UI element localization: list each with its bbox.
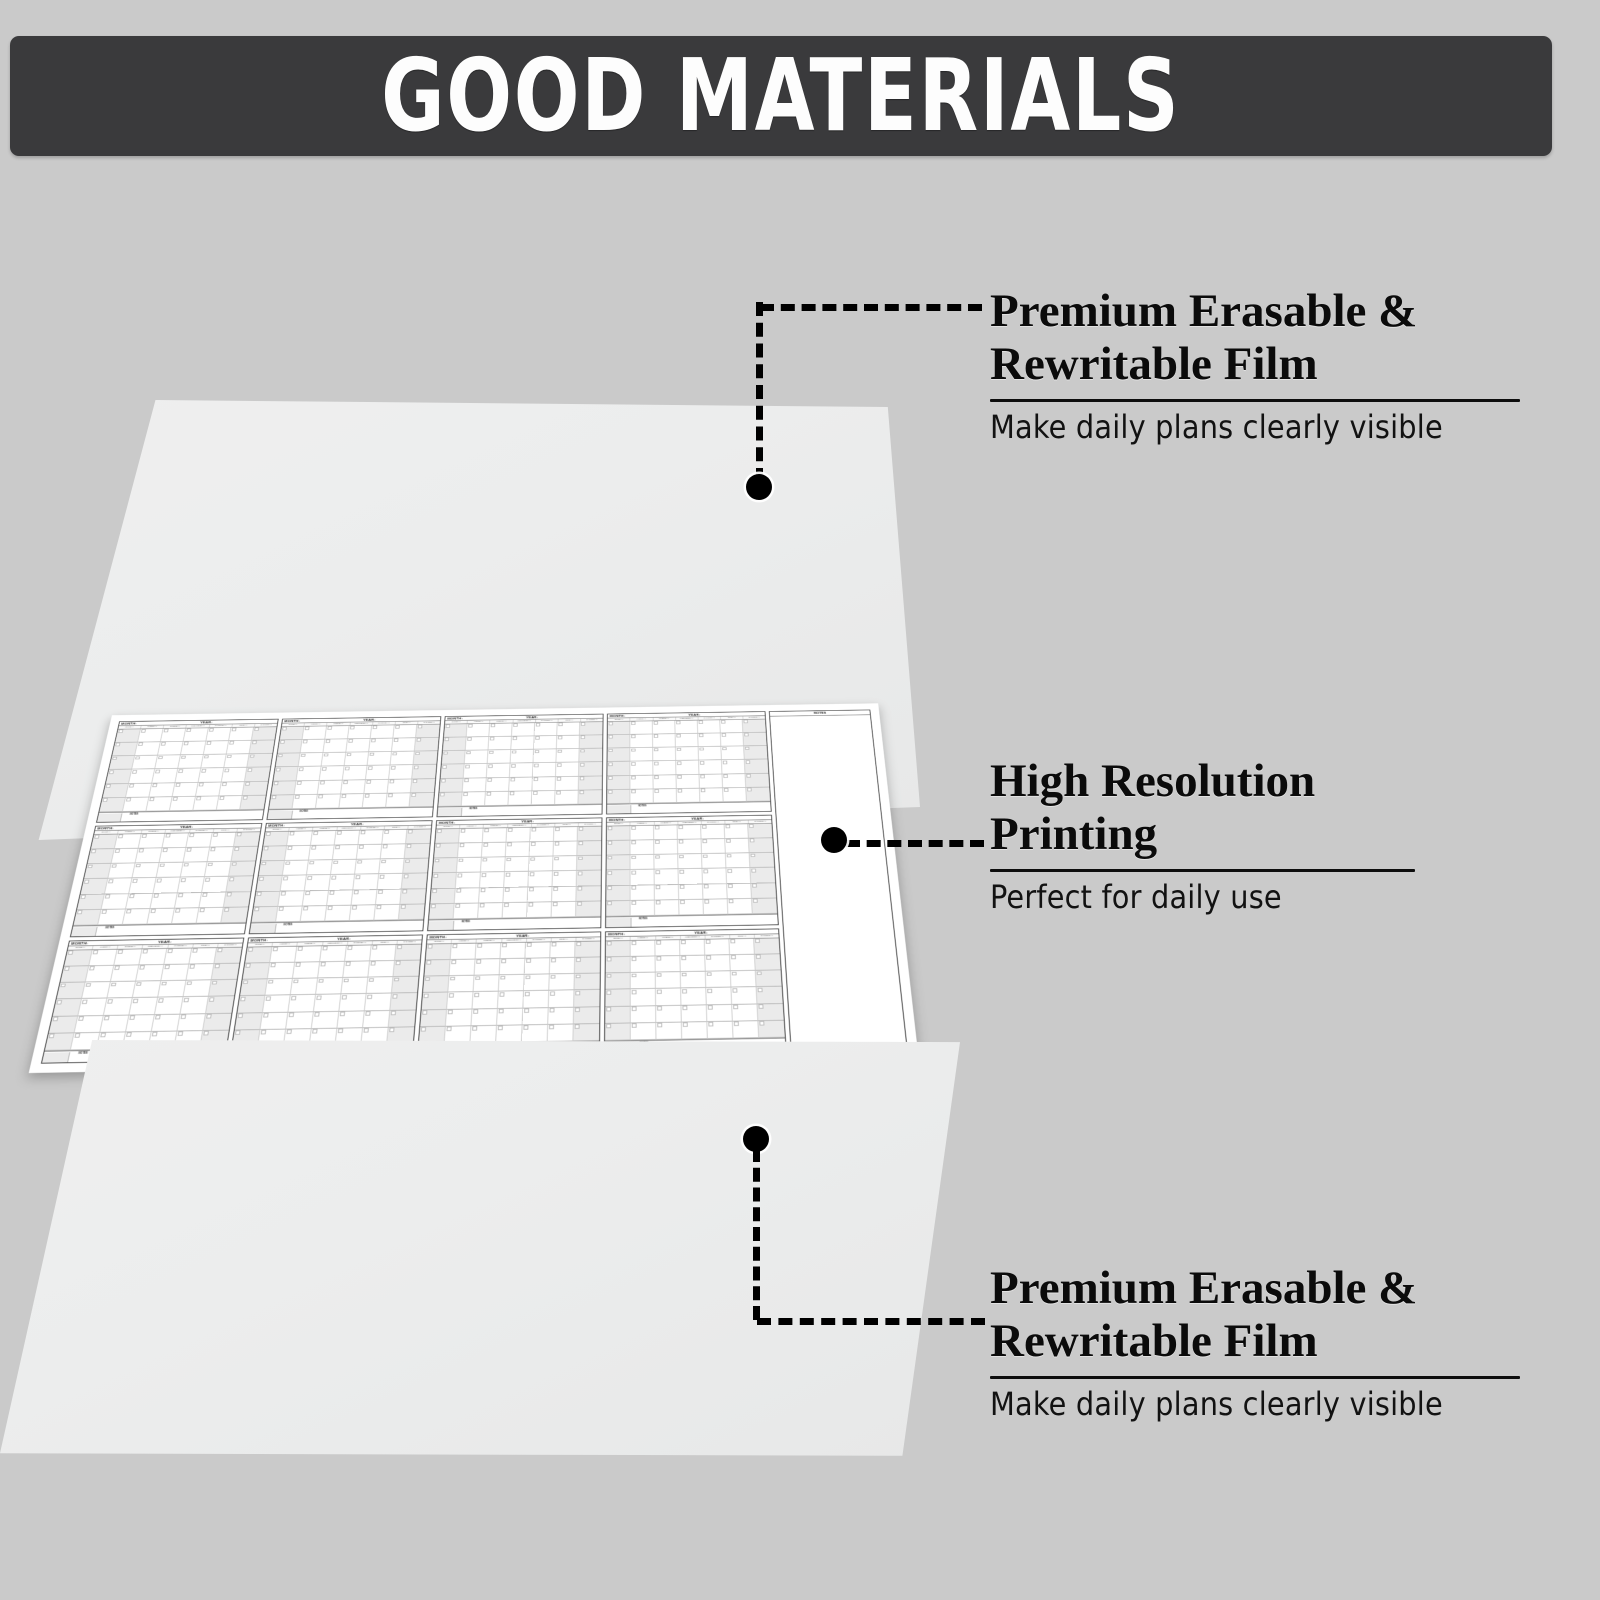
day-cell [579, 762, 602, 776]
day-cell [170, 796, 196, 811]
day-cell [341, 978, 368, 995]
day-cell [548, 1007, 574, 1024]
day-cell [605, 1023, 631, 1041]
day-cell [307, 860, 333, 875]
day-cell [186, 833, 212, 848]
day-cell [653, 721, 676, 735]
day-cell [556, 763, 579, 777]
day-cell [701, 824, 725, 839]
callout-bottom-subtitle: Make daily plans clearly visible [990, 1385, 1535, 1423]
day-cell [265, 979, 293, 996]
day-cell [473, 992, 499, 1009]
day-cell [522, 1025, 548, 1043]
day-cell [111, 849, 138, 864]
day-cell [523, 1008, 549, 1025]
day-cell [722, 760, 746, 774]
day-cell [335, 830, 360, 845]
day-cell [107, 982, 136, 999]
day-cell [499, 975, 525, 992]
day-cell [291, 978, 318, 995]
day-cell [391, 752, 415, 766]
day-cell [382, 829, 407, 844]
day-cell [503, 902, 528, 918]
day-cell [74, 1016, 103, 1034]
day-cell [270, 946, 297, 963]
callout-middle: High Resolution Printing Perfect for dai… [990, 755, 1410, 917]
day-cell [281, 876, 307, 892]
day-cell [553, 871, 578, 887]
day-cell [707, 1004, 733, 1021]
day-cell [475, 959, 501, 976]
day-cell [243, 963, 271, 980]
day-cell [580, 735, 603, 749]
day-cell [511, 736, 534, 750]
day-cell [299, 753, 324, 767]
day-cell [482, 842, 507, 857]
day-cell [303, 726, 328, 740]
day-cell [353, 874, 379, 890]
day-cell-grid [607, 719, 770, 804]
day-cell [704, 899, 729, 915]
day-cell [656, 956, 681, 973]
day-cell [631, 734, 654, 748]
day-cell [221, 907, 248, 923]
day-cell [507, 827, 531, 842]
notes-panel: NOTES [769, 710, 907, 1051]
day-cell [654, 789, 677, 804]
day-cell [512, 723, 535, 737]
day-cell [631, 775, 654, 789]
day-cell [197, 908, 224, 924]
day-cell [607, 789, 630, 804]
day-cell [454, 903, 479, 919]
day-cell [508, 791, 532, 806]
day-cell [455, 888, 480, 904]
day-cell [677, 774, 700, 788]
day-cell [410, 793, 435, 808]
month-row: MONTH:YEAR:SUNDAYMONDAYTUESDAYWEDNESDAYT… [96, 711, 772, 823]
page-title: GOOD MATERIALS [381, 46, 1180, 146]
day-cell [406, 829, 431, 844]
day-cell [368, 752, 392, 766]
day-cell [181, 862, 208, 877]
day-cell [207, 847, 233, 862]
day-cell [392, 738, 416, 752]
day-cell [608, 735, 631, 749]
month-block: MONTH:YEAR:SUNDAYMONDAYTUESDAYWEDNESDAYT… [437, 714, 604, 817]
day-cell [751, 868, 776, 884]
day-cell [524, 974, 550, 991]
day-cell [322, 753, 347, 767]
day-cell [146, 797, 172, 812]
day-cell [100, 1015, 129, 1033]
day-cell [276, 906, 303, 922]
month-block: MONTH:YEAR:SUNDAYMONDAYTUESDAYWEDNESDAYT… [606, 711, 772, 814]
day-cell [325, 905, 351, 921]
day-cell [476, 943, 502, 960]
day-cell [357, 844, 382, 859]
day-cell [123, 909, 151, 925]
day-cell [706, 971, 732, 988]
day-cell [339, 794, 364, 809]
day-cell [415, 738, 439, 752]
day-cell [478, 903, 503, 919]
day-cell [451, 943, 477, 960]
day-cell [481, 857, 506, 872]
day-cell-grid [606, 823, 777, 916]
day-cell [392, 977, 419, 994]
day-cell [386, 793, 411, 808]
day-cell [554, 827, 578, 842]
day-cell [325, 726, 349, 740]
day-cell [434, 843, 459, 858]
day-cell [698, 733, 721, 747]
day-cell [181, 741, 206, 755]
callout-middle-marker-dot [821, 827, 847, 853]
day-cell [552, 902, 577, 918]
day-cell [352, 890, 378, 906]
month-block: MONTH:YEAR:SUNDAYMONDAYTUESDAYWEDNESDAYT… [605, 815, 779, 928]
day-cell [112, 742, 138, 756]
day-cell [432, 873, 457, 889]
day-cell [133, 981, 161, 998]
day-cell [422, 993, 449, 1010]
day-cell [99, 798, 126, 813]
day-cell [87, 849, 114, 864]
day-cell [450, 959, 476, 976]
day-cell [757, 987, 783, 1004]
day-cell [429, 904, 455, 920]
day-cell [705, 939, 730, 955]
day-cell [631, 870, 655, 886]
day-cell [82, 982, 111, 999]
day-cell [161, 964, 189, 981]
month-label: MONTH: [429, 935, 446, 939]
day-cell [178, 877, 205, 893]
day-cell [680, 939, 705, 955]
day-cell [580, 722, 603, 736]
day-cell [423, 976, 449, 993]
day-cell [203, 1013, 231, 1031]
day-cell [574, 1024, 600, 1042]
day-cell [350, 905, 376, 921]
day-cell [98, 909, 126, 925]
day-cell [678, 839, 702, 854]
day-cell [158, 981, 186, 998]
day-cell [366, 766, 391, 780]
day-cell [303, 890, 329, 906]
day-cell [489, 736, 513, 750]
day-cell [414, 751, 438, 765]
day-cell [501, 942, 527, 959]
day-cell [557, 735, 580, 749]
month-block: MONTH:YEAR:SUNDAYMONDAYTUESDAYWEDNESDAYT… [604, 928, 787, 1053]
day-cell [557, 749, 580, 763]
callout-top: Premium Erasable & Rewritable Film Make … [990, 285, 1535, 447]
day-cell [259, 861, 285, 876]
day-cell [575, 941, 600, 958]
day-cell [577, 841, 601, 856]
day-cell [749, 838, 774, 853]
day-cell [533, 763, 557, 777]
day-cell [316, 978, 343, 995]
day-cell [341, 780, 366, 794]
day-cell [345, 752, 370, 766]
day-cell [368, 961, 395, 978]
callout-bottom-title: Premium Erasable & Rewritable Film [990, 1262, 1535, 1367]
day-cell [86, 966, 115, 983]
month-label: MONTH: [610, 714, 626, 717]
day-cell [204, 741, 229, 755]
bottom-film-layer [0, 1040, 960, 1460]
day-cell [607, 776, 630, 790]
day-cell [196, 782, 222, 796]
day-cell [486, 777, 510, 791]
day-cell [725, 824, 749, 839]
day-cell [699, 760, 722, 774]
day-cell [183, 980, 211, 997]
day-cell [479, 887, 504, 903]
day-cell [433, 858, 458, 873]
day-cell [234, 832, 260, 847]
day-cell [733, 1021, 759, 1039]
day-cell [426, 944, 452, 961]
day-cell [84, 864, 111, 879]
day-cell [103, 784, 129, 798]
day-cell [78, 999, 107, 1016]
month-notes-label: NOTES [462, 806, 602, 811]
day-cell [316, 794, 341, 809]
day-cell [156, 863, 183, 878]
day-cell [534, 736, 557, 750]
day-cell [292, 795, 317, 810]
day-cell [331, 860, 357, 875]
day-cell [607, 840, 631, 855]
day-cell [359, 830, 384, 845]
day-cell [389, 765, 413, 779]
day-cell [631, 900, 655, 916]
day-cell [411, 779, 435, 793]
day-cell [109, 756, 135, 770]
day-cell-grid [73, 832, 260, 926]
day-cell [280, 726, 305, 740]
day-cell [135, 848, 162, 863]
day-cell [752, 898, 777, 914]
day-cell [162, 833, 189, 848]
callout-top-marker-dot [746, 474, 772, 500]
day-cell [240, 979, 268, 996]
day-cell [631, 748, 654, 762]
day-cell [578, 826, 602, 841]
day-cell [305, 875, 331, 891]
month-label: MONTH: [71, 942, 89, 946]
day-cell [606, 885, 630, 901]
day-cell [206, 728, 231, 742]
month-block: MONTH:YEAR:SUNDAYMONDAYTUESDAYWEDNESDAYT… [70, 823, 263, 937]
day-cell [106, 770, 132, 784]
day-cell [655, 900, 680, 916]
day-cell [676, 734, 699, 748]
day-cell [219, 782, 245, 796]
month-notes-label: NOTES [454, 918, 601, 923]
month-notes-label: NOTES [292, 808, 433, 813]
day-cell [656, 1005, 682, 1022]
day-cell [606, 941, 631, 958]
month-block: MONTH:YEAR:SUNDAYMONDAYTUESDAYWEDNESDAYT… [427, 817, 602, 931]
callout-top-leader-vertical [756, 302, 763, 482]
month-block: MONTH:YEAR:SUNDAYMONDAYTUESDAYWEDNESDAYT… [266, 716, 441, 820]
day-cell [550, 958, 575, 975]
day-cell [554, 841, 578, 856]
day-cell [549, 974, 575, 991]
day-cell-grid [419, 941, 600, 1044]
day-cell [129, 998, 158, 1015]
day-cell [333, 845, 359, 860]
day-cell [462, 792, 486, 807]
day-cell [746, 773, 770, 787]
day-cell [123, 797, 149, 812]
month-notes-box [268, 811, 293, 820]
day-cell [251, 907, 278, 923]
day-cell [420, 1009, 447, 1026]
day-cell [403, 859, 428, 874]
day-cell [606, 901, 630, 917]
day-cell [705, 955, 731, 972]
day-cell [506, 842, 530, 857]
day-cell-grid [269, 724, 440, 809]
day-cell [606, 957, 631, 974]
month-row: MONTH:YEAR:SUNDAYMONDAYTUESDAYWEDNESDAYT… [70, 815, 779, 938]
month-label: MONTH: [284, 720, 300, 723]
day-cell [723, 774, 747, 788]
day-cell [576, 901, 601, 917]
day-cell [309, 845, 335, 860]
day-cell [424, 960, 450, 977]
day-cell [656, 940, 681, 956]
day-cell [681, 972, 707, 989]
day-cell [730, 939, 756, 955]
day-cell [111, 965, 139, 982]
day-cell [758, 1004, 784, 1021]
day-cell [681, 955, 706, 972]
day-cell [525, 958, 551, 975]
day-cell [754, 938, 780, 954]
day-cell [329, 875, 355, 891]
day-cell [504, 872, 529, 888]
day-cell [210, 832, 236, 847]
day-cell [73, 910, 101, 926]
day-cell [700, 774, 724, 788]
day-cell [496, 1025, 522, 1043]
day-cell [115, 834, 142, 849]
day-cell-grid [45, 947, 242, 1051]
month-notes-box [438, 808, 462, 817]
day-cell [631, 885, 655, 901]
day-cell [699, 747, 722, 761]
day-cell [231, 847, 257, 862]
day-cell [675, 720, 698, 734]
day-cell [159, 848, 186, 863]
day-cell [467, 724, 491, 738]
month-notes-box [42, 1052, 71, 1063]
day-cell [183, 847, 210, 862]
day-cell [374, 905, 400, 921]
day-cell [532, 791, 556, 806]
day-cell [608, 762, 631, 776]
day-cell [105, 878, 133, 894]
day-cell [577, 856, 601, 871]
day-cell [376, 889, 402, 905]
day-cell [441, 764, 465, 778]
day-cell [448, 976, 474, 993]
day-cell-grid [232, 944, 421, 1047]
day-cell [369, 738, 393, 752]
day-cell [631, 761, 654, 775]
month-notes-label: NOTES [631, 803, 771, 808]
day-cell [607, 855, 631, 870]
day-cell [678, 825, 702, 840]
day-cell [363, 793, 388, 808]
day-cell [480, 872, 505, 888]
day-cell [549, 990, 575, 1007]
day-cell [607, 870, 631, 886]
day-cell [104, 998, 133, 1015]
day-cell [393, 725, 417, 739]
day-cell [485, 791, 509, 806]
day-cell [364, 779, 389, 793]
day-cell [631, 956, 656, 973]
day-cell [444, 724, 468, 738]
day-cell [606, 973, 631, 990]
day-cell [732, 987, 758, 1004]
day-cell [676, 747, 699, 761]
day-cell [394, 960, 420, 977]
day-cell [209, 980, 237, 997]
day-cell [700, 788, 724, 802]
day-cell [556, 776, 580, 790]
day-cell [235, 1013, 263, 1031]
day-cell [337, 1011, 364, 1028]
day-cell [745, 760, 769, 774]
day-cell [193, 796, 219, 811]
day-cell [574, 990, 600, 1007]
day-cell [114, 949, 142, 966]
day-cell [199, 768, 225, 782]
day-cell [212, 963, 240, 980]
day-cell [732, 1004, 758, 1021]
day-cell [435, 829, 460, 844]
month-block: MONTH:YEAR:SUNDAYMONDAYTUESDAYWEDNESDAYT… [96, 719, 279, 823]
day-cell [703, 869, 728, 885]
day-cell [575, 957, 600, 974]
day-cell [530, 827, 554, 842]
day-cell [498, 991, 524, 1008]
day-cell [263, 995, 291, 1012]
callout-middle-divider [990, 869, 1415, 872]
day-cell [229, 861, 255, 876]
callout-bottom-leader-horizontal [757, 1318, 985, 1325]
day-cell [371, 725, 395, 739]
day-cell [756, 970, 782, 987]
day-cell [744, 732, 767, 746]
month-label: MONTH: [97, 827, 114, 830]
day-cell [443, 737, 467, 751]
day-cell [367, 977, 394, 994]
day-cell [535, 722, 558, 736]
month-label: MONTH: [609, 818, 625, 821]
day-cell [702, 854, 726, 869]
day-cell [464, 764, 488, 778]
